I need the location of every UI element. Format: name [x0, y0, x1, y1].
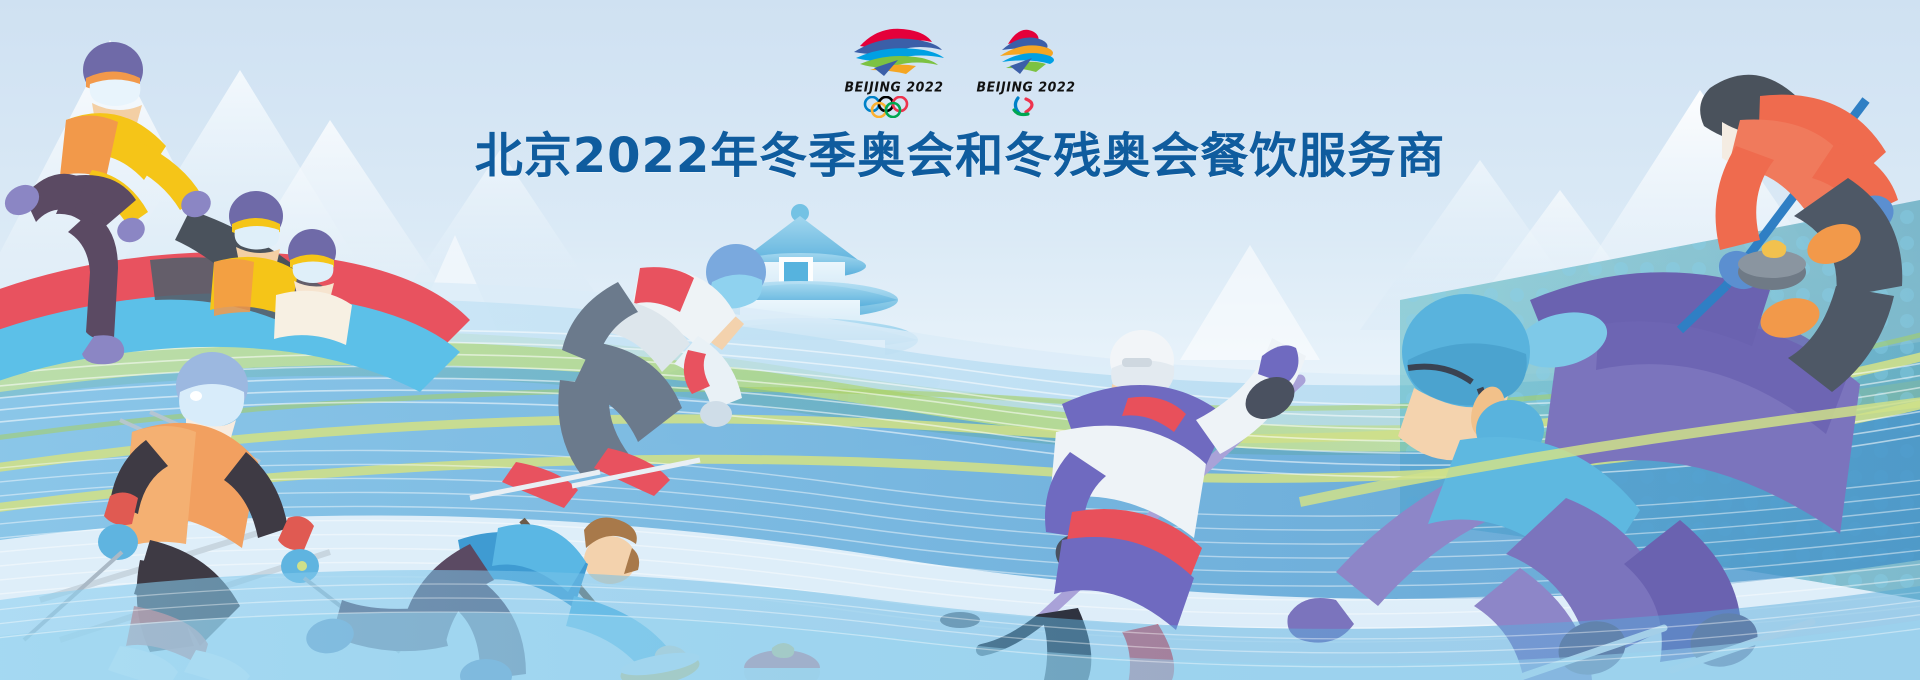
olympics-banner: BEIJING 2022 — [0, 0, 1920, 680]
paralympic-emblem: BEIJING 2022 — [972, 22, 1080, 118]
olympic-emblem: BEIJING 2022 — [840, 22, 948, 118]
paralympic-wordmark: BEIJING 2022 — [972, 78, 1080, 94]
emblem-row: BEIJING 2022 — [0, 22, 1920, 118]
olympic-wordmark: BEIJING 2022 — [840, 78, 948, 94]
olympic-figure-icon — [840, 22, 948, 78]
agitos-icon — [972, 96, 1080, 118]
olympic-rings-icon — [840, 96, 948, 118]
banner-header: BEIJING 2022 — [0, 0, 1920, 210]
paralympic-figure-icon — [972, 22, 1080, 78]
page-title: 北京2022年冬季奥会和冬残奥会餐饮服务商 — [0, 116, 1920, 186]
